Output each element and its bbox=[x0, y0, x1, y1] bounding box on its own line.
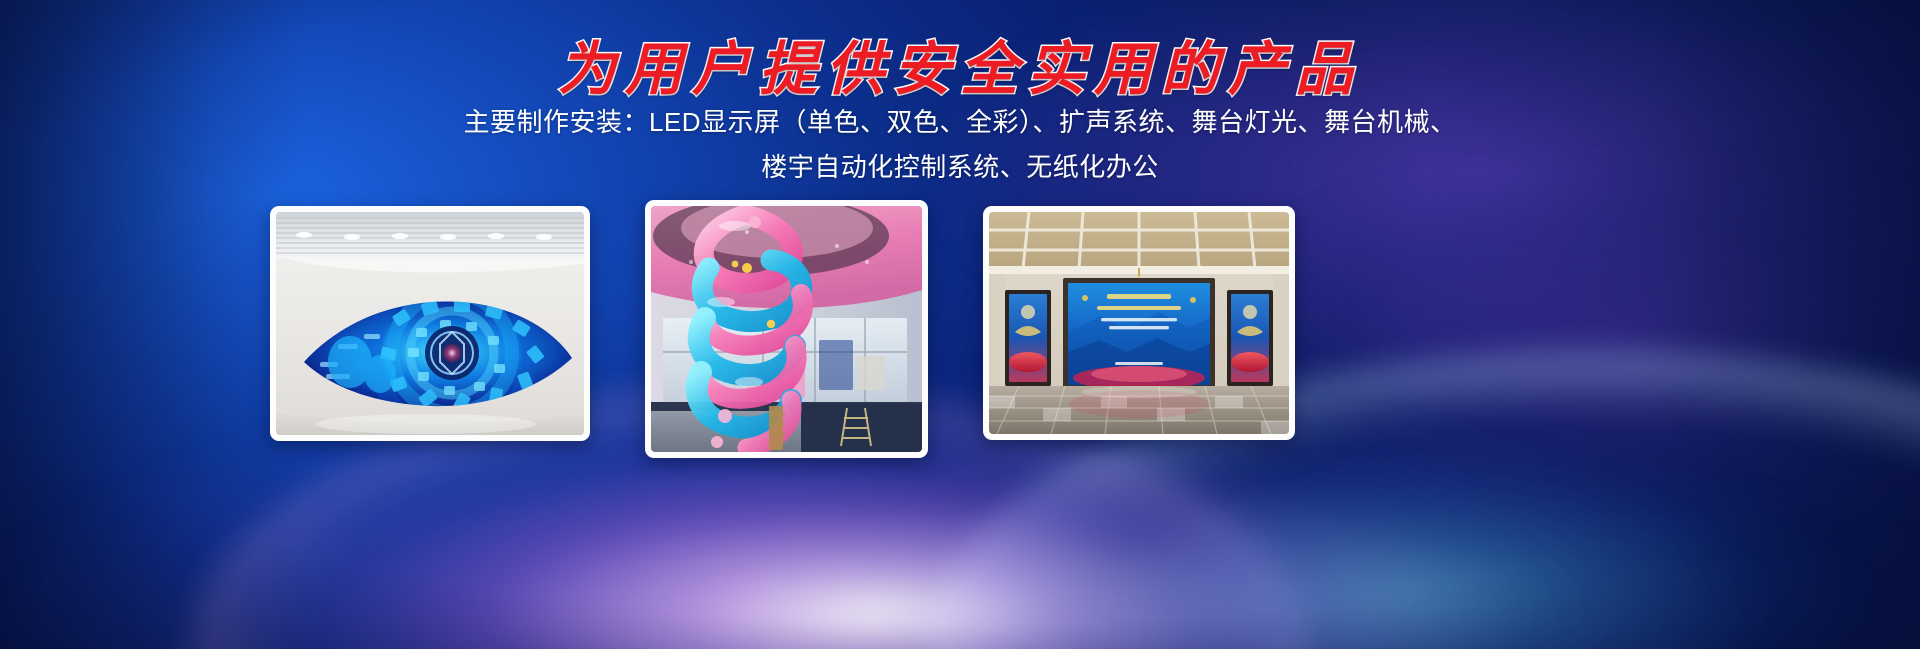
photo-eye-shaped-led-display bbox=[276, 212, 584, 435]
gallery-item-3[interactable] bbox=[983, 206, 1295, 440]
subtitle-line-1: 主要制作安装：LED显示屏（单色、双色、全彩）、扩声系统、舞台灯光、舞台机械、 bbox=[0, 100, 1920, 145]
gallery bbox=[0, 200, 1920, 470]
banner-stage: 为用户提供安全实用的产品 主要制作安装：LED显示屏（单色、双色、全彩）、扩声系… bbox=[0, 0, 1920, 649]
gallery-item-1[interactable] bbox=[270, 206, 590, 441]
photo-spiral-led-screen bbox=[651, 206, 922, 452]
page-title: 为用户提供安全实用的产品 bbox=[0, 22, 1920, 106]
gallery-item-2[interactable] bbox=[645, 200, 928, 458]
subtitle-line-2: 楼宇自动化控制系统、无纸化办公 bbox=[0, 145, 1920, 190]
photo-conference-hall-led-screen bbox=[989, 212, 1289, 434]
subtitle-block: 主要制作安装：LED显示屏（单色、双色、全彩）、扩声系统、舞台灯光、舞台机械、 … bbox=[0, 100, 1920, 190]
